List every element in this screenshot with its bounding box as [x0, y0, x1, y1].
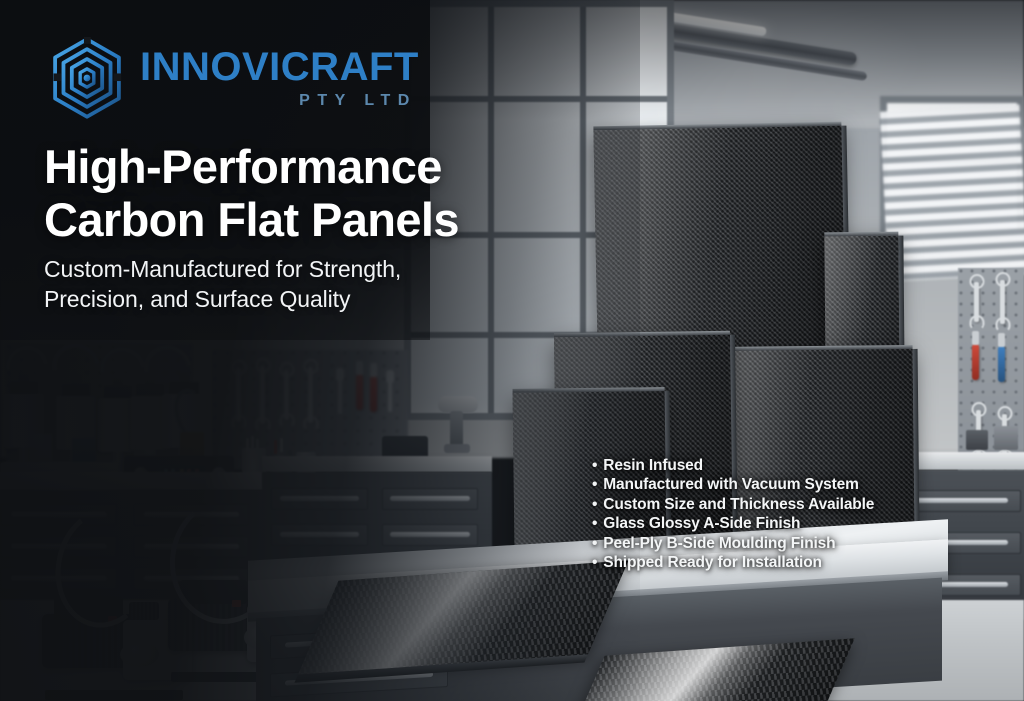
list-item: Peel-Ply B-Side Moulding Finish [592, 534, 874, 553]
page-subtitle: Custom-Manufactured for Strength, Precis… [44, 254, 401, 315]
subhead-line-2: Precision, and Surface Quality [44, 284, 401, 314]
list-item: Glass Glossy A-Side Finish [592, 514, 874, 533]
headline-line-2: Carbon Flat Panels [44, 194, 459, 247]
headline-line-1: High-Performance [44, 141, 459, 194]
list-item: Resin Infused [592, 456, 874, 475]
feature-list: Resin Infused Manufactured with Vacuum S… [592, 456, 874, 572]
brand-suffix: PTY LTD [140, 92, 419, 110]
brand-lockup: INNOVICRAFT PTY LTD [48, 37, 419, 119]
list-item: Custom Size and Thickness Available [592, 495, 874, 514]
poster-canvas: INNOVICRAFT PTY LTD High-Performance Car… [0, 0, 1024, 701]
pliers-icon [972, 344, 979, 380]
brand-text: INNOVICRAFT PTY LTD [140, 47, 419, 110]
pliers-icon [998, 346, 1005, 382]
subhead-line-1: Custom-Manufactured for Strength, [44, 254, 401, 284]
list-item: Manufactured with Vacuum System [592, 475, 874, 494]
bench-parts [966, 424, 1020, 452]
list-item: Shipped Ready for Installation [592, 553, 874, 572]
wrench-icon [1000, 280, 1005, 324]
page-title: High-Performance Carbon Flat Panels [44, 141, 459, 246]
wrench-icon [974, 282, 979, 322]
nested-hexagon-logo-icon [48, 37, 126, 119]
brand-name: INNOVICRAFT [140, 47, 419, 87]
